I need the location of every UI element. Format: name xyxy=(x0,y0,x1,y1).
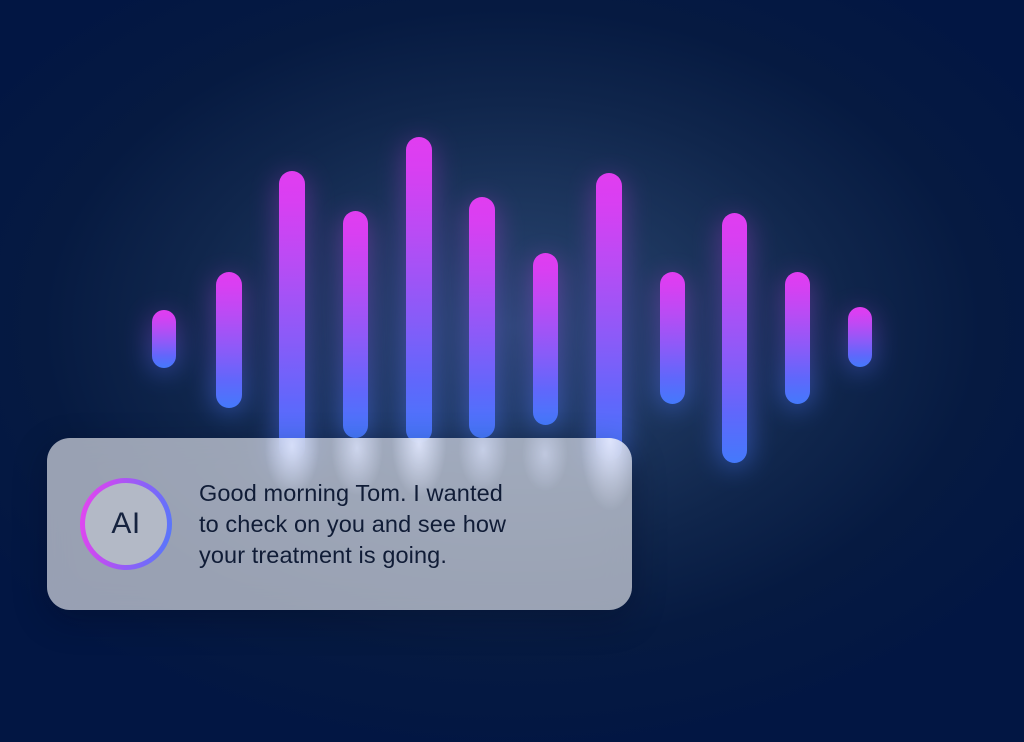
waveform-bar xyxy=(785,272,810,404)
avatar-label: AI xyxy=(111,507,140,541)
waveform-bar xyxy=(216,272,242,408)
waveform-bar xyxy=(660,272,685,404)
waveform-bar xyxy=(596,173,622,461)
waveform-bar xyxy=(406,137,432,443)
waveform-bar xyxy=(533,253,558,425)
voice-assistant-scene: AI Good morning Tom. I wanted to check o… xyxy=(0,0,1024,742)
waveform-bar xyxy=(343,211,368,438)
voice-activity-waveform xyxy=(0,0,1024,742)
ai-message-card[interactable]: AI Good morning Tom. I wanted to check o… xyxy=(47,438,632,610)
waveform-bar xyxy=(722,213,747,463)
waveform-bar xyxy=(469,197,495,438)
waveform-bar xyxy=(848,307,872,367)
waveform-bar xyxy=(152,310,176,368)
avatar: AI xyxy=(80,478,172,570)
waveform-bar xyxy=(279,171,305,461)
ai-message-card-inner: AI Good morning Tom. I wanted to check o… xyxy=(47,478,536,571)
ai-message-text: Good morning Tom. I wanted to check on y… xyxy=(199,478,506,571)
